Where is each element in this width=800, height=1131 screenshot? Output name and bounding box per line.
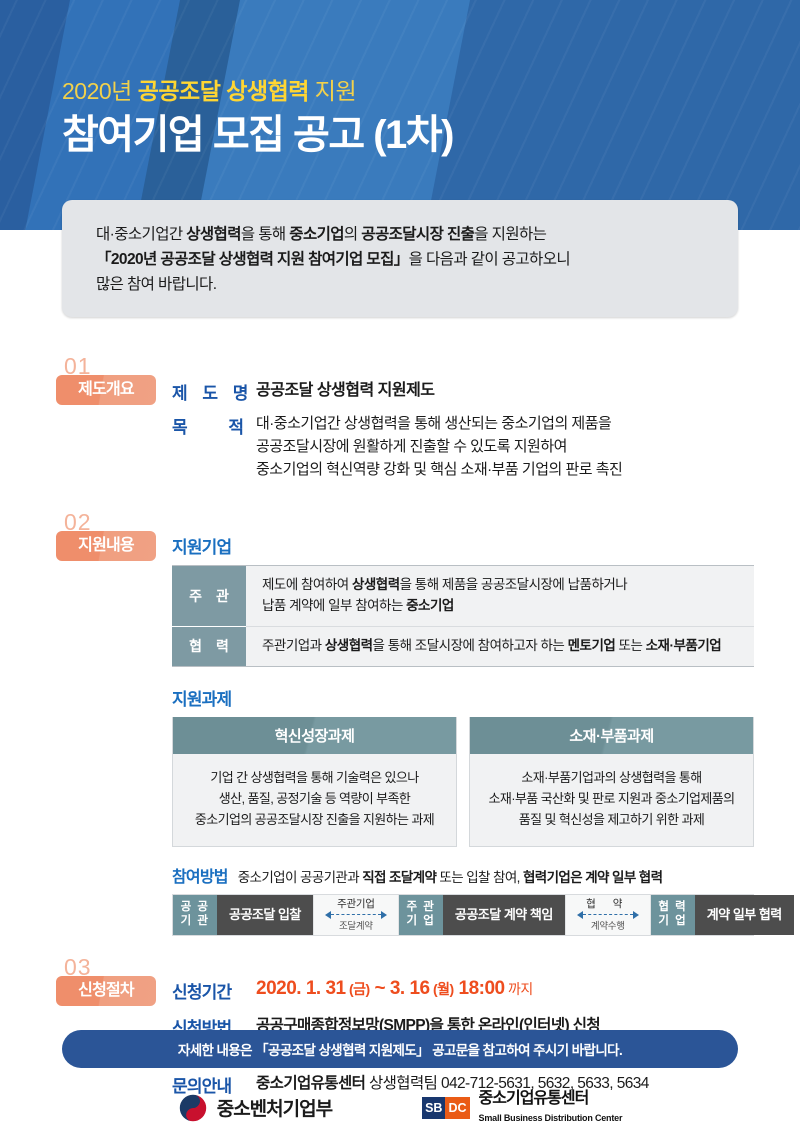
- page-title: 참여기업 모집 공고 (1차): [62, 112, 453, 158]
- period-day-2: (월): [430, 981, 454, 997]
- flow-action-contract-responsibility: 공공조달 계약 책임: [443, 895, 565, 935]
- flow-actor-public-institution: 공 공 기 관: [173, 895, 217, 935]
- intro-l1b: 상생협력: [186, 226, 241, 243]
- period-date-1: 1. 31: [306, 978, 346, 999]
- poster-footer: 자세한 내용은 「공공조달 상생협력 지원제도」 공고문을 참고하여 주시기 바…: [0, 1030, 800, 1126]
- taegeuk-icon: [178, 1093, 208, 1123]
- purpose-line-2: 공공조달시장에 원활하게 진출할 수 있도록 지원하여: [256, 436, 622, 459]
- join-b: 직접 조달계약: [362, 870, 436, 885]
- task-title-innovation: 혁신성장과제: [173, 717, 456, 754]
- join-method-label: 참여방법: [172, 863, 228, 887]
- task-box-innovation: 혁신성장과제 기업 간 상생협력을 통해 기술력은 있으나 생산, 품질, 공정…: [172, 717, 457, 847]
- poster-header: 2020년 공공조달 상생협력 지원 참여기업 모집 공고 (1차): [0, 0, 800, 230]
- table-cell-main: 제도에 참여하여 상생협력을 통해 제품을 공공조달시장에 납품하거나납품 계약…: [246, 566, 754, 627]
- flow-action-public-bid: 공공조달 입찰: [217, 895, 313, 935]
- intro-l2a: 「2020년 공공조달 상생협력 지원 참여기업 모집」: [96, 251, 409, 268]
- table-head-partner: 협 력: [172, 626, 246, 666]
- section-01-badge: 제도개요: [56, 375, 156, 405]
- flow-actor-partner-company: 협 력 기 업: [651, 895, 695, 935]
- main-line-2a: 납품 계약에 일부 참여하는: [262, 598, 406, 613]
- materials-line-3: 품질 및 혁신성을 제고하기 위한 과제: [478, 809, 745, 830]
- period-tail: 까지: [505, 981, 533, 997]
- flow-arrow-agreement: 협 약 계약수행: [565, 895, 651, 935]
- field-label-program-name: 제 도 명: [172, 379, 256, 404]
- sbdc-mark-sb: SB: [422, 1097, 445, 1119]
- participation-flow-diagram: 공 공 기 관 공공조달 입찰 주관기업 조달계약 주 관 기 업 공공조달 계…: [172, 894, 754, 936]
- join-a: 중소기업이 공공기관과: [238, 870, 363, 885]
- section-02: 02 지원내용 지원기업 주 관 제도에 참여하여 상생협력을 통해 제품을 공…: [0, 511, 800, 936]
- flow-arrow-1-top: 주관기업: [337, 898, 374, 910]
- intro-l1d: 중소기업: [289, 226, 344, 243]
- logo-sbdc-label-en: Small Business Distribution Center: [479, 1113, 623, 1123]
- section-03-badge: 신청절차: [56, 976, 156, 1006]
- period-year: 2020.: [256, 978, 306, 999]
- flow-arrow-2-top: 협 약: [586, 898, 629, 910]
- partner-c: 을 통해 조달시장에 참여하고자 하는: [373, 638, 568, 653]
- footer-logos: 중소벤처기업부 SB DC 중소기업유통센터 Small Business Di…: [0, 1090, 800, 1126]
- header-eyebrow-suffix: 지원: [309, 78, 356, 104]
- innovation-line-3: 중소기업의 공공조달시장 진출을 지원하는 과제: [181, 809, 448, 830]
- field-value-purpose: 대·중소기업간 상생협력을 통해 생산되는 중소기업의 제품을 공공조달시장에 …: [256, 413, 622, 481]
- bidirectional-arrow-icon: [577, 911, 639, 919]
- task-body-materials: 소재·부품기업과의 상생협력을 통해 소재·부품 국산화 및 판로 지원과 중소…: [470, 754, 753, 846]
- section-01-body: 제 도 명 공공조달 상생협력 지원제도 목 적 대·중소기업간 상생협력을 통…: [172, 355, 754, 481]
- bidirectional-arrow-icon: [325, 911, 387, 919]
- field-row-program-name: 제 도 명 공공조달 상생협력 지원제도: [172, 379, 754, 404]
- logo-sbdc-label-kr: 중소기업유통센터: [479, 1090, 589, 1107]
- partner-d: 멘토기업: [568, 638, 616, 653]
- main-line-1b: 상생협력: [352, 577, 400, 592]
- period-separator: ~: [370, 978, 390, 999]
- intro-l1e: 의: [344, 226, 361, 243]
- flow-arrow-1-bottom: 조달계약: [339, 921, 373, 932]
- flow-arrow-2-bottom: 계약수행: [591, 921, 625, 932]
- subheading-support-tasks: 지원과제: [172, 685, 754, 710]
- table-row: 주 관 제도에 참여하여 상생협력을 통해 제품을 공공조달시장에 납품하거나납…: [172, 566, 754, 627]
- partner-f: 소재·부품기업: [646, 638, 722, 653]
- field-value-program-name: 공공조달 상생협력 지원제도: [256, 379, 435, 403]
- period-time: 18:00: [454, 978, 505, 999]
- footer-notice-bar: 자세한 내용은 「공공조달 상생협력 지원제도」 공고문을 참고하여 주시기 바…: [62, 1030, 738, 1068]
- support-tasks-row: 혁신성장과제 기업 간 상생협력을 통해 기술력은 있으나 생산, 품질, 공정…: [172, 717, 754, 847]
- logo-mss: 중소벤처기업부: [178, 1093, 332, 1123]
- purpose-line-1: 대·중소기업간 상생협력을 통해 생산되는 중소기업의 제품을: [256, 413, 622, 436]
- table-cell-partner: 주관기업과 상생협력을 통해 조달시장에 참여하고자 하는 멘토기업 또는 소재…: [246, 626, 754, 666]
- intro-box: 대·중소기업간 상생협력을 통해 중소기업의 공공조달시장 진출을 지원하는「2…: [62, 200, 738, 317]
- innovation-line-1: 기업 간 상생협력을 통해 기술력은 있으나: [181, 767, 448, 788]
- innovation-line-2: 생산, 품질, 공정기술 등 역량이 부족한: [181, 788, 448, 809]
- main-line-1c: 을 통해 제품을 공공조달시장에 납품하거나: [400, 577, 628, 592]
- header-eyebrow-highlight: 공공조달 상생협력: [138, 78, 309, 104]
- table-head-main: 주 관: [172, 566, 246, 627]
- intro-wrapper: 대·중소기업간 상생협력을 통해 중소기업의 공공조달시장 진출을 지원하는「2…: [0, 200, 800, 317]
- logo-mss-label: 중소벤처기업부: [217, 1094, 332, 1121]
- header-text-block: 2020년 공공조달 상생협력 지원 참여기업 모집 공고 (1차): [62, 78, 453, 158]
- field-row-purpose: 목 적 대·중소기업간 상생협력을 통해 생산되는 중소기업의 제품을 공공조달…: [172, 413, 754, 481]
- partner-e: 또는: [615, 638, 645, 653]
- section-02-badge-col: 02 지원내용: [56, 511, 164, 561]
- sbdc-name-block: 중소기업유통센터 Small Business Distribution Cen…: [479, 1090, 623, 1126]
- intro-l1c: 을 통해: [241, 226, 289, 243]
- materials-line-1: 소재·부품기업과의 상생협력을 통해: [478, 767, 745, 788]
- join-method-line: 참여방법 중소기업이 공공기관과 직접 조달계약 또는 입찰 참여, 협력기업은…: [172, 863, 754, 887]
- section-01-badge-col: 01 제도개요: [56, 355, 164, 405]
- flow-arrow-procurement-contract: 주관기업 조달계약: [313, 895, 399, 935]
- sbdc-mark-dc: DC: [445, 1097, 469, 1119]
- intro-paragraph: 대·중소기업간 상생협력을 통해 중소기업의 공공조달시장 진출을 지원하는「2…: [96, 222, 710, 297]
- sbdc-mark-icon: SB DC: [422, 1097, 469, 1119]
- subheading-support-companies: 지원기업: [172, 533, 754, 558]
- support-companies-table: 주 관 제도에 참여하여 상생협력을 통해 제품을 공공조달시장에 납품하거나납…: [172, 565, 754, 667]
- period-day-1: (금): [346, 981, 370, 997]
- flow-actor-main-company: 주 관 기 업: [399, 895, 443, 935]
- task-title-materials: 소재·부품과제: [470, 717, 753, 754]
- logo-sbdc: SB DC 중소기업유통센터 Small Business Distributi…: [422, 1090, 622, 1126]
- section-02-badge: 지원내용: [56, 531, 156, 561]
- field-value-period: 2020. 1. 31 (금) ~ 3. 16 (월) 18:00 까지: [256, 978, 533, 1000]
- task-box-materials: 소재·부품과제 소재·부품기업과의 상생협력을 통해 소재·부품 국산화 및 판…: [469, 717, 754, 847]
- header-eyebrow-year: 2020년: [62, 78, 138, 104]
- table-row: 협 력 주관기업과 상생협력을 통해 조달시장에 참여하고자 하는 멘토기업 또…: [172, 626, 754, 666]
- header-shape-5: [425, 0, 800, 230]
- main-line-2b: 중소기업: [406, 598, 454, 613]
- field-label-purpose: 목 적: [172, 413, 256, 438]
- header-eyebrow: 2020년 공공조달 상생협력 지원: [62, 78, 453, 106]
- join-c: 또는 입찰 참여,: [436, 870, 523, 885]
- poster-body: 01 제도개요 제 도 명 공공조달 상생협력 지원제도 목 적 대·중소기업간…: [0, 355, 800, 1108]
- partner-b: 상생협력: [325, 638, 373, 653]
- intro-l1a: 대·중소기업간: [96, 226, 186, 243]
- join-d: 협력기업은 계약 일부 협력: [523, 870, 662, 885]
- materials-line-2: 소재·부품 국산화 및 판로 지원과 중소기업제품의: [478, 788, 745, 809]
- period-date-2: 3. 16: [390, 978, 430, 999]
- join-method-desc: 중소기업이 공공기관과 직접 조달계약 또는 입찰 참여, 협력기업은 계약 일…: [238, 866, 663, 886]
- intro-l2b: 을 다음과 같이 공고하오니: [409, 251, 570, 268]
- section-02-body: 지원기업 주 관 제도에 참여하여 상생협력을 통해 제품을 공공조달시장에 납…: [172, 511, 754, 936]
- section-01: 01 제도개요 제 도 명 공공조달 상생협력 지원제도 목 적 대·중소기업간…: [0, 355, 800, 505]
- intro-l1g: 을 지원하는: [474, 226, 546, 243]
- field-row-period: 신청기간 2020. 1. 31 (금) ~ 3. 16 (월) 18:00 까…: [172, 978, 754, 1003]
- intro-l1f: 공공조달시장 진출: [361, 226, 474, 243]
- field-label-period: 신청기간: [172, 978, 256, 1003]
- section-03-badge-col: 03 신청절차: [56, 956, 164, 1006]
- partner-a: 주관기업과: [262, 638, 325, 653]
- task-body-innovation: 기업 간 상생협력을 통해 기술력은 있으나 생산, 품질, 공정기술 등 역량…: [173, 754, 456, 846]
- purpose-line-3: 중소기업의 혁신역량 강화 및 핵심 소재·부품 기업의 판로 촉진: [256, 459, 622, 482]
- flow-action-partial-cooperation: 계약 일부 협력: [695, 895, 794, 935]
- intro-l3: 많은 참여 바랍니다.: [96, 276, 216, 293]
- main-line-1a: 제도에 참여하여: [262, 577, 352, 592]
